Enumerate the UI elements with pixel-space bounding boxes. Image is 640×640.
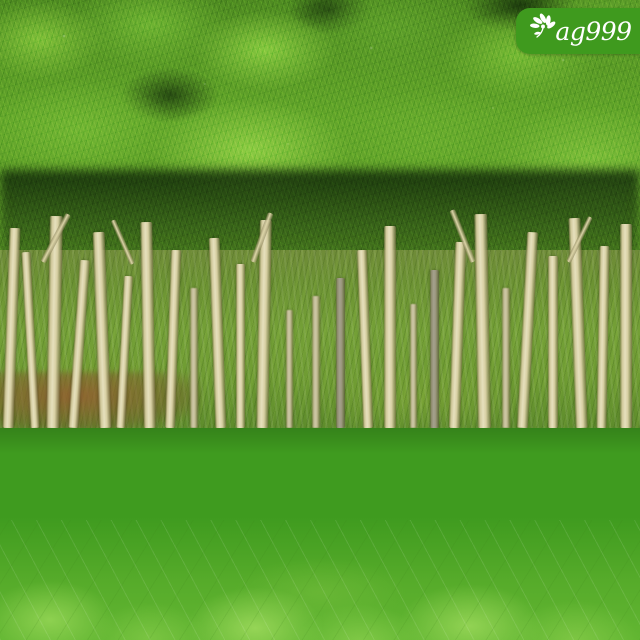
leaf-vein-texture xyxy=(0,520,640,640)
hero-photo-moringa-grove: ag999 xyxy=(0,0,640,428)
panel-top-shadow xyxy=(0,428,640,454)
tree-trunk xyxy=(430,270,439,428)
tree-trunk xyxy=(312,296,320,428)
tree-trunk xyxy=(190,288,198,428)
tree-trunk xyxy=(236,264,245,428)
tree-trunk xyxy=(620,224,632,428)
brand-name: ag999 xyxy=(555,19,631,44)
moringa-info-poster: ag999 HOW WE GR xyxy=(0,0,640,640)
tree-trunk xyxy=(548,256,558,428)
tree-trunk xyxy=(410,304,417,428)
tree-trunk xyxy=(336,278,345,428)
flower-icon xyxy=(528,13,558,43)
info-panel: HOW WE GROW MORINGA LEAVES We grow Morin… xyxy=(0,428,640,640)
tree-trunk xyxy=(286,310,293,428)
brand-logo-badge[interactable]: ag999 xyxy=(516,8,640,54)
tree-trunk xyxy=(384,226,396,428)
tree-trunk xyxy=(502,288,510,428)
